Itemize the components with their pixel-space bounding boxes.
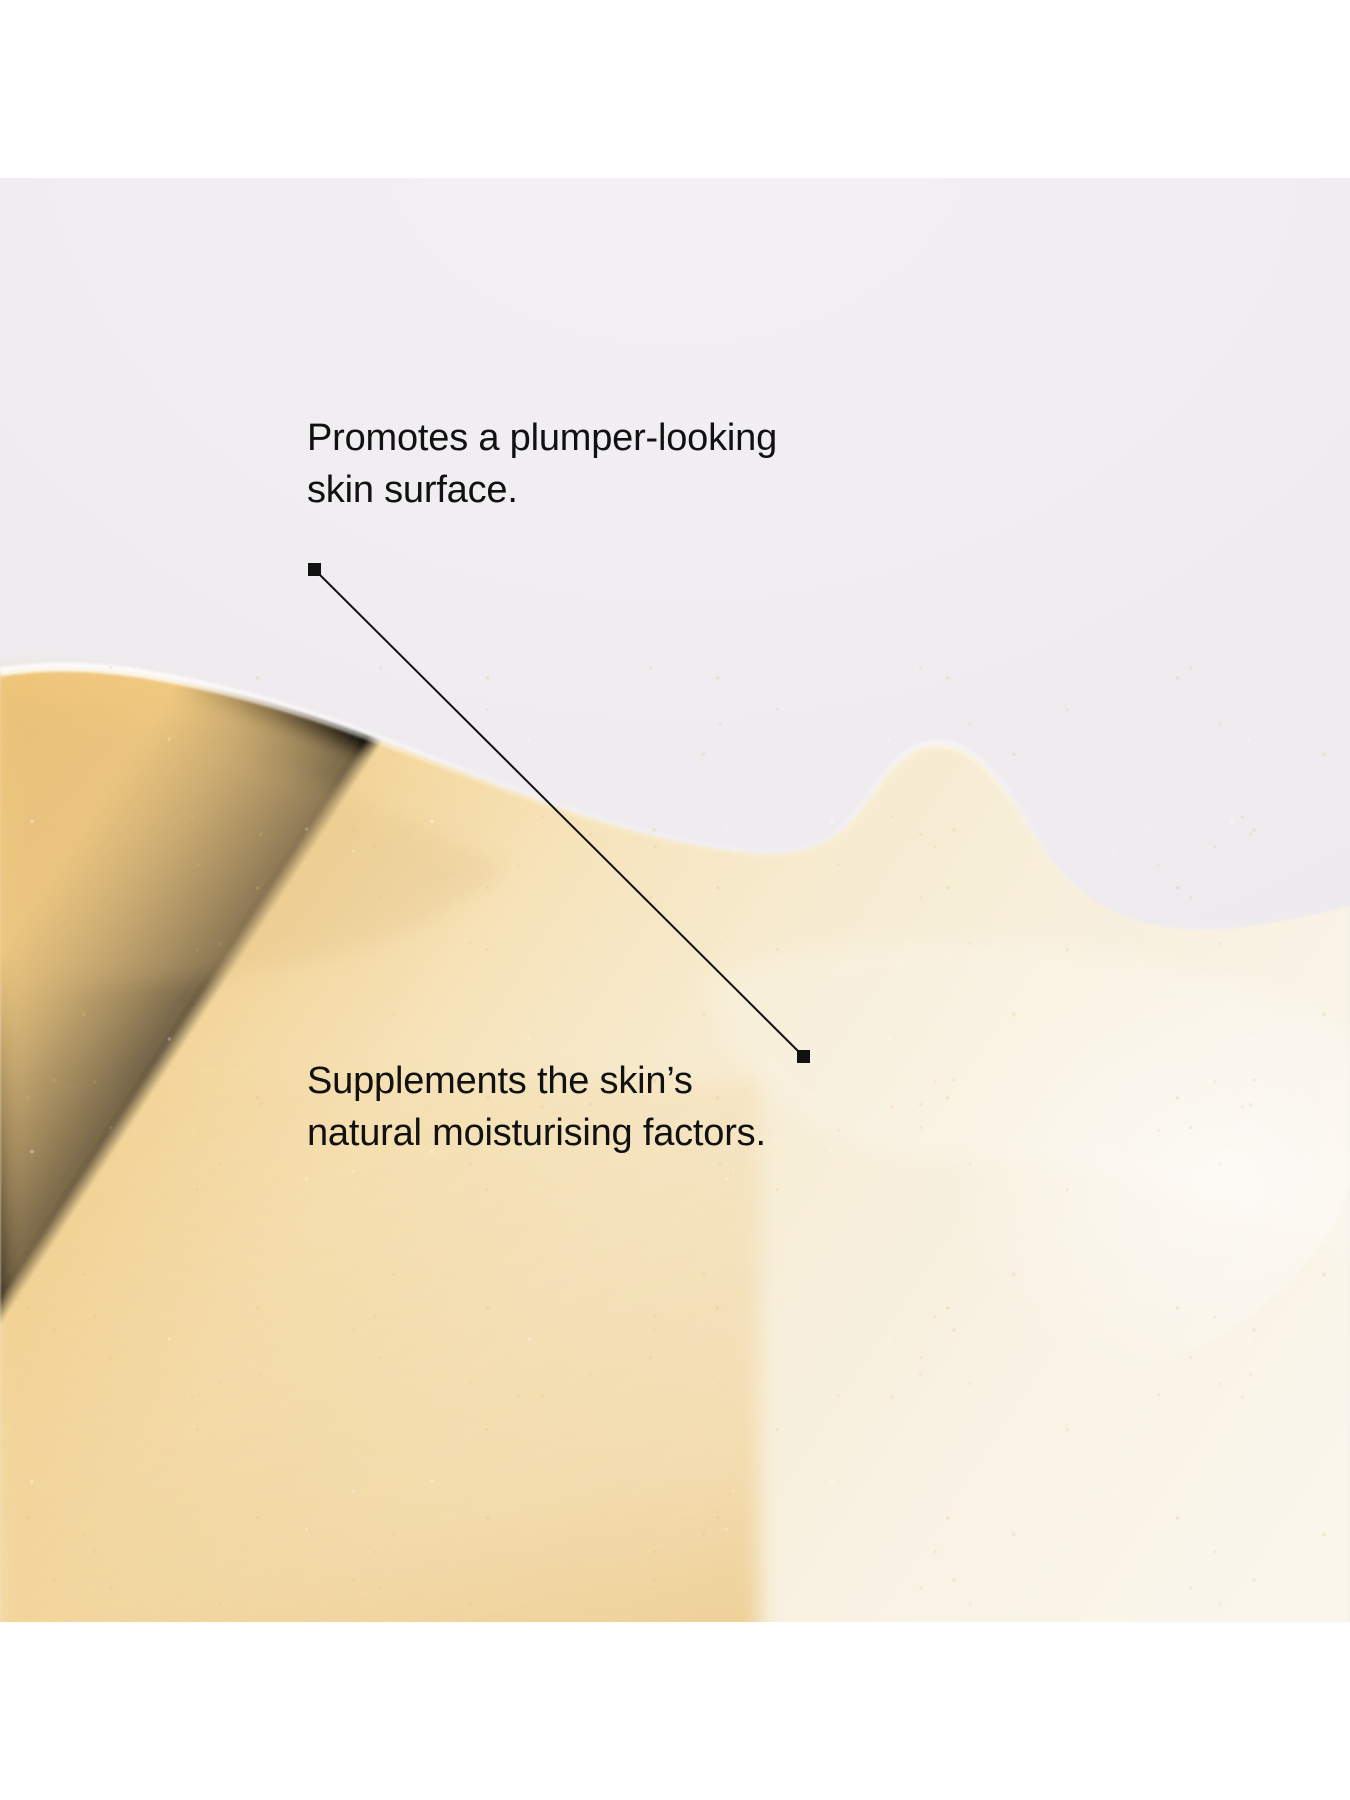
- callout-text-bottom: Supplements the skin’s natural moisturis…: [307, 1056, 766, 1159]
- cream-smear: [0, 0, 1350, 1800]
- letterbox-bottom: [0, 1622, 1350, 1800]
- callout-text-top: Promotes a plumper-looking skin surface.: [307, 413, 777, 516]
- letterbox-top: [0, 0, 1350, 178]
- image-canvas: Promotes a plumper-looking skin surface.…: [0, 0, 1350, 1800]
- product-texture: [0, 0, 1350, 1800]
